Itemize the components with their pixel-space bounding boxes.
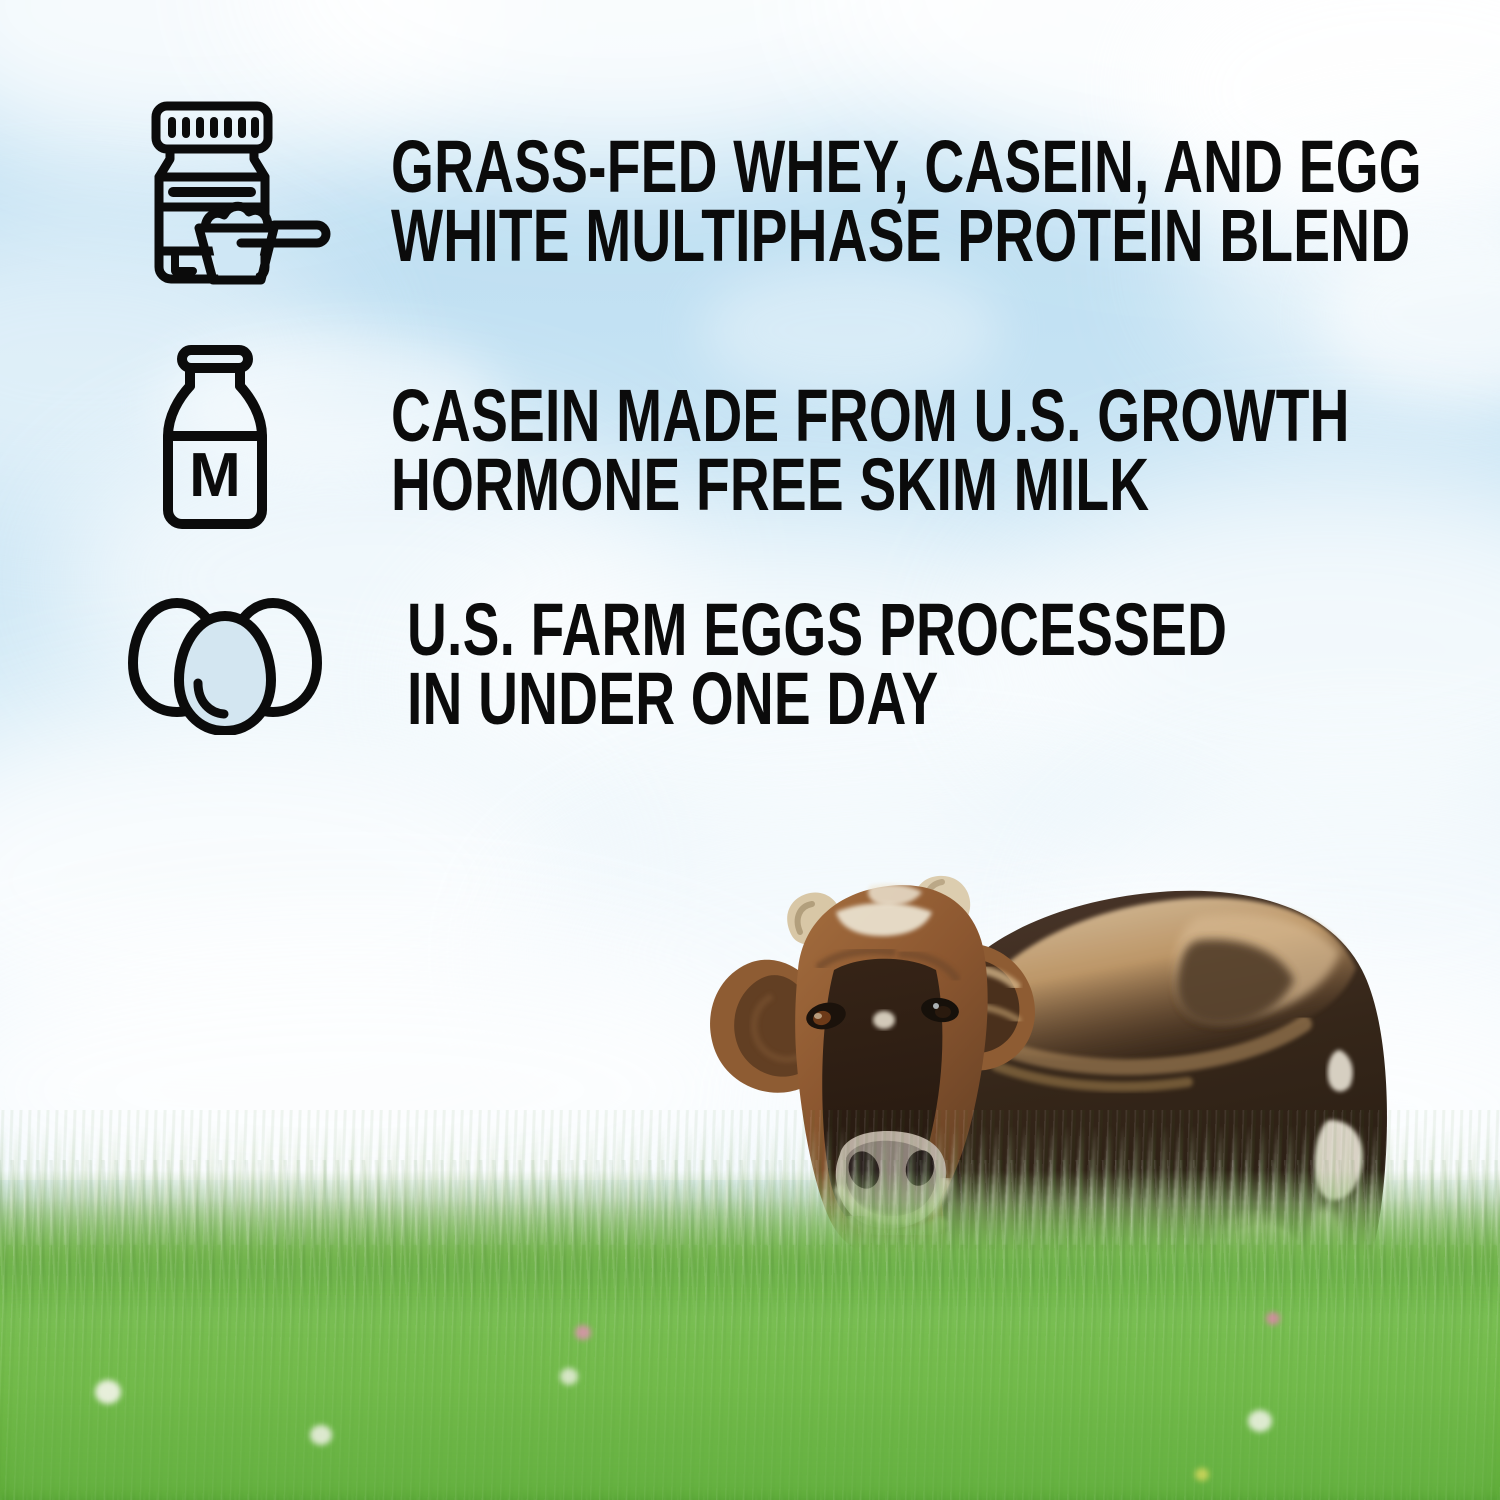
wildflower-pink <box>1266 1312 1280 1325</box>
protein-container-scoop-icon <box>135 95 335 290</box>
clover-flower <box>1248 1410 1272 1432</box>
milk-bottle-letter: M <box>189 441 241 510</box>
clover-flower <box>310 1425 332 1445</box>
product-feature-banner: GRASS-FED WHEY, CASEIN, AND EGG WHITE MU… <box>0 0 1500 1500</box>
feature-text-farm-eggs: U.S. FARM EGGS PROCESSED IN UNDER ONE DA… <box>407 596 1227 734</box>
feature-row-protein-blend: GRASS-FED WHEY, CASEIN, AND EGG WHITE MU… <box>135 95 1500 290</box>
wildflower-yellow <box>1195 1468 1209 1481</box>
clover-flower <box>560 1368 578 1385</box>
wildflower-pink <box>575 1325 591 1340</box>
clover-flower <box>95 1380 121 1404</box>
feature-text-casein-milk: CASEIN MADE FROM U.S. GROWTH HORMONE FRE… <box>391 382 1350 520</box>
grass-field <box>0 1080 1500 1500</box>
eggs-icon <box>120 590 335 735</box>
milk-bottle-icon: M <box>135 340 335 540</box>
feature-row-farm-eggs: U.S. FARM EGGS PROCESSED IN UNDER ONE DA… <box>120 590 1500 735</box>
feature-text-protein-blend: GRASS-FED WHEY, CASEIN, AND EGG WHITE MU… <box>391 133 1422 271</box>
feature-row-casein-milk: M CASEIN MADE FROM U.S. GROWTH HORMONE F… <box>135 340 1500 540</box>
